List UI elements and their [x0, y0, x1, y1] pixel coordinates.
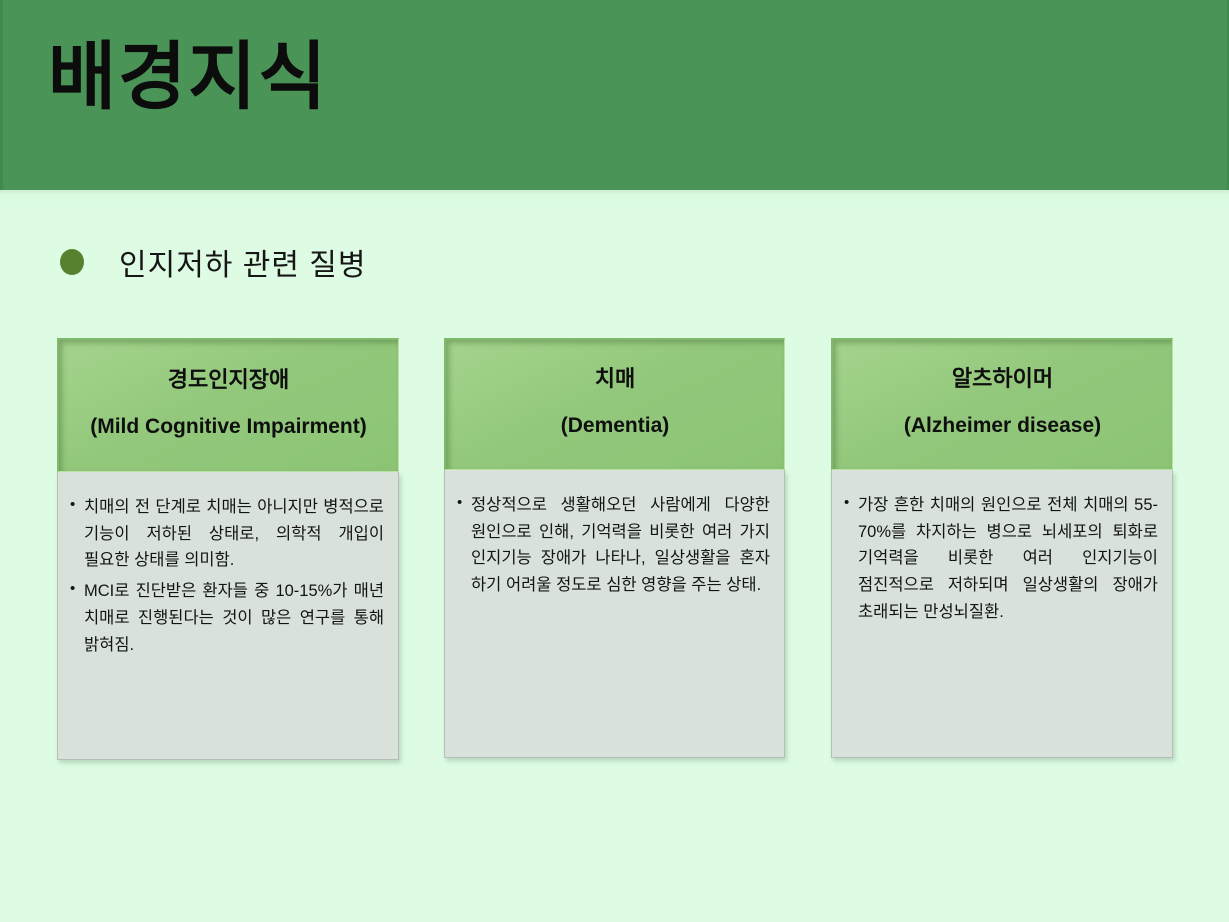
list-item: 치매의 전 단계로 치매는 아니지만 병적으로 기능이 저하된 상태로, 의학적…	[70, 494, 384, 574]
card-header-dementia: 치매 (Dementia)	[444, 338, 785, 470]
card-title-en-mci: (Mild Cognitive Impairment)	[67, 413, 390, 442]
card-body-mci: 치매의 전 단계로 치매는 아니지만 병적으로 기능이 저하된 상태로, 의학적…	[57, 472, 399, 760]
card-body-alzheimer: 가장 흔한 치매의 원인으로 전체 치매의 55-70%를 차지하는 병으로 뇌…	[831, 470, 1173, 758]
card-dementia: 치매 (Dementia) 정상적으로 생활해오던 사람에게 다양한 원인으로 …	[444, 338, 785, 758]
card-title-ko-mci: 경도인지장애	[67, 365, 390, 395]
card-body-list-dementia: 정상적으로 생활해오던 사람에게 다양한 원인으로 인해, 기억력을 비롯한 여…	[457, 492, 770, 599]
card-title-ko-alzheimer: 알츠하이머	[841, 364, 1164, 394]
section-bullet-row: 인지저하 관련 질병	[60, 240, 366, 284]
card-body-list-alzheimer: 가장 흔한 치매의 원인으로 전체 치매의 55-70%를 차지하는 병으로 뇌…	[844, 492, 1158, 626]
card-header-alzheimer: 알츠하이머 (Alzheimer disease)	[831, 338, 1173, 470]
bullet-dot-icon	[60, 249, 84, 275]
list-item: 가장 흔한 치매의 원인으로 전체 치매의 55-70%를 차지하는 병으로 뇌…	[844, 492, 1158, 626]
card-title-en-alzheimer: (Alzheimer disease)	[841, 412, 1164, 441]
card-title-ko-dementia: 치매	[454, 364, 776, 394]
card-title-en-dementia: (Dementia)	[454, 412, 776, 441]
list-item: 정상적으로 생활해오던 사람에게 다양한 원인으로 인해, 기억력을 비롯한 여…	[457, 492, 770, 599]
card-body-list-mci: 치매의 전 단계로 치매는 아니지만 병적으로 기능이 저하된 상태로, 의학적…	[70, 494, 384, 658]
card-mild-cognitive-impairment: 경도인지장애 (Mild Cognitive Impairment) 치매의 전…	[57, 338, 399, 760]
card-body-dementia: 정상적으로 생활해오던 사람에게 다양한 원인으로 인해, 기억력을 비롯한 여…	[444, 470, 785, 758]
page-title: 배경지식	[48, 34, 328, 119]
section-bullet-label: 인지저하 관련 질병	[119, 240, 366, 284]
card-alzheimer: 알츠하이머 (Alzheimer disease) 가장 흔한 치매의 원인으로…	[831, 338, 1173, 758]
slide-header-band: 배경지식	[0, 0, 1229, 190]
card-header-mci: 경도인지장애 (Mild Cognitive Impairment)	[57, 338, 399, 472]
list-item: MCI로 진단받은 환자들 중 10-15%가 매년 치매로 진행된다는 것이 …	[70, 578, 384, 658]
